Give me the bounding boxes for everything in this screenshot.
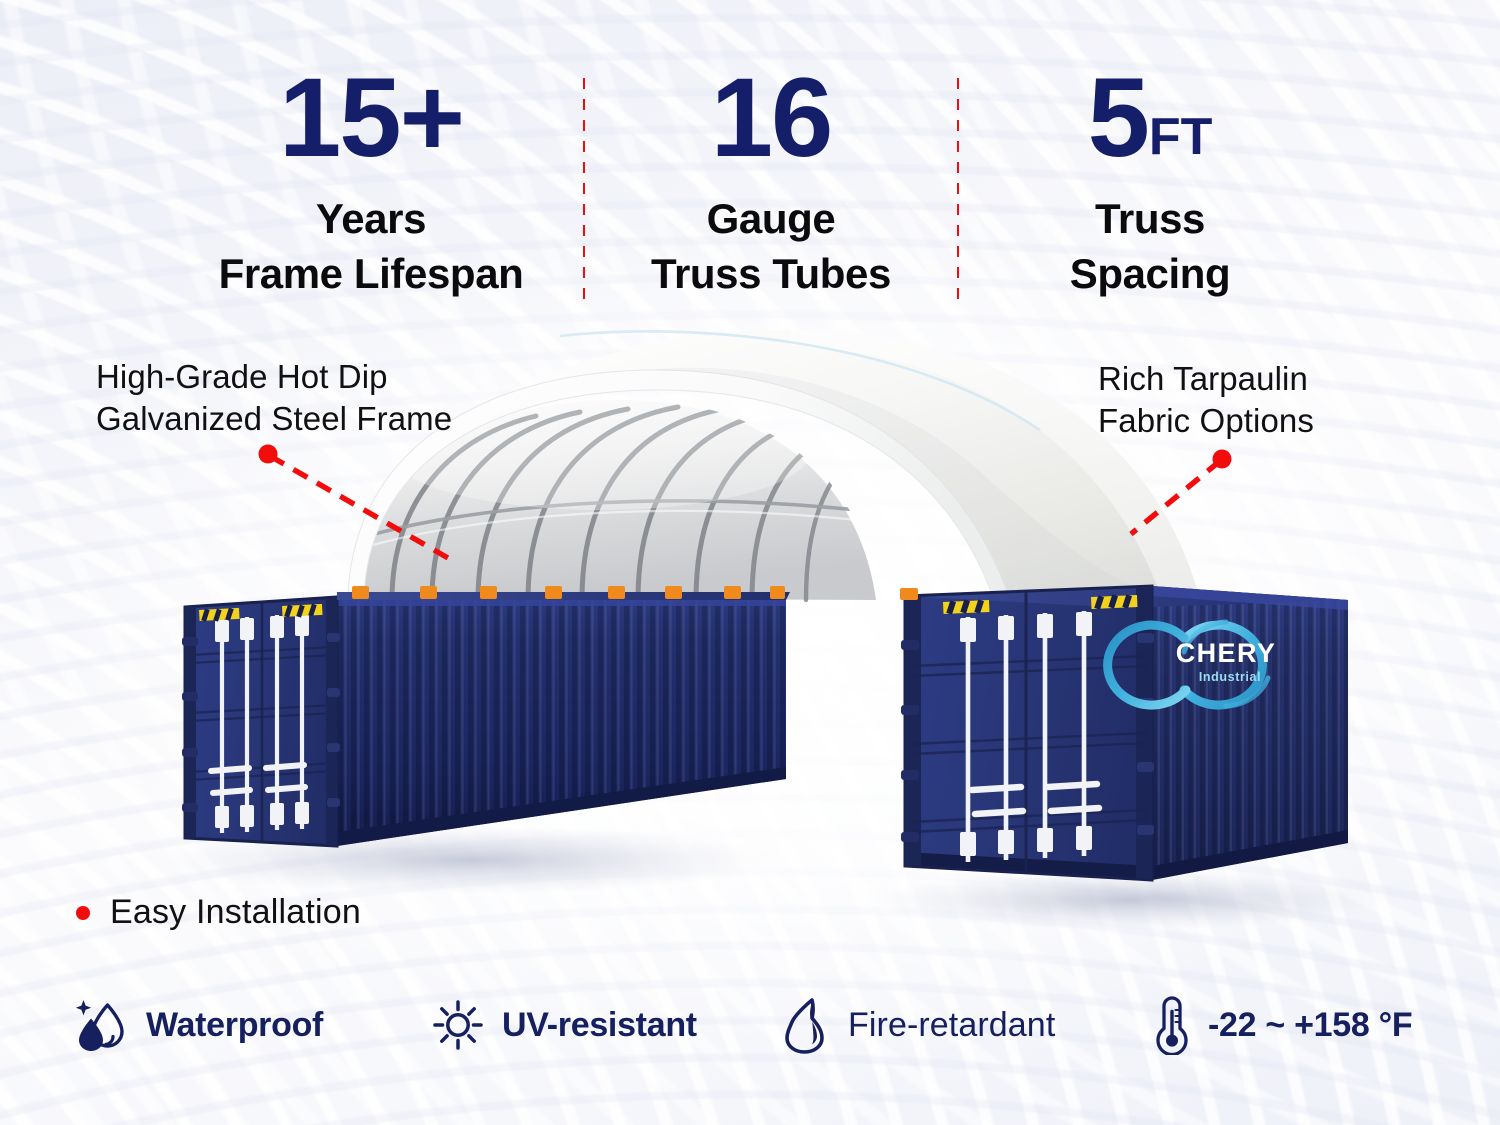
container-left	[182, 586, 790, 846]
easy-installation-row: Easy Installation	[76, 893, 361, 932]
bullet-dot-icon	[76, 906, 90, 920]
easy-installation-label: Easy Installation	[110, 893, 361, 932]
feature-label: Fire-retardant	[848, 1006, 1055, 1045]
feature-label: -22 ~ +158 °F	[1208, 1006, 1412, 1045]
callout-galvanized-frame: High-Grade Hot Dip Galvanized Steel Fram…	[96, 356, 452, 440]
feature-fire-retardant: Fire-retardant	[784, 996, 1154, 1054]
sun-icon	[432, 999, 484, 1051]
logo-tagline-text: Industrial	[1199, 670, 1261, 684]
logo-brand-text: CHERY	[1176, 638, 1277, 668]
canopy-mounting-bracket-right	[900, 588, 918, 600]
feature-temperature-range: -22 ~ +158 °F	[1154, 995, 1444, 1055]
infographic-canvas: 15+ Years Frame Lifespan 16 Gauge Truss …	[0, 0, 1500, 1125]
canopy-tarp-assembly	[348, 330, 1200, 600]
container-right: CHERY Industrial	[900, 586, 1348, 880]
feature-label: UV-resistant	[502, 1006, 697, 1045]
feature-uv-resistant: UV-resistant	[432, 999, 784, 1051]
water-droplet-icon	[74, 996, 128, 1054]
leader-dot-frame	[259, 445, 278, 464]
container-left-roof-edge	[337, 592, 790, 600]
callout-tarpaulin-fabric: Rich Tarpaulin Fabric Options	[1098, 358, 1314, 442]
features-row: Waterproof UV-resistant	[74, 995, 1444, 1055]
feature-waterproof: Waterproof	[74, 996, 432, 1054]
feature-label: Waterproof	[146, 1006, 323, 1045]
container-right-door-face	[905, 586, 1152, 880]
product-illustration: CHERY Industrial	[0, 0, 1500, 1125]
leader-dot-fabric	[1213, 450, 1232, 469]
thermometer-icon	[1154, 995, 1190, 1055]
flame-icon	[784, 996, 830, 1054]
